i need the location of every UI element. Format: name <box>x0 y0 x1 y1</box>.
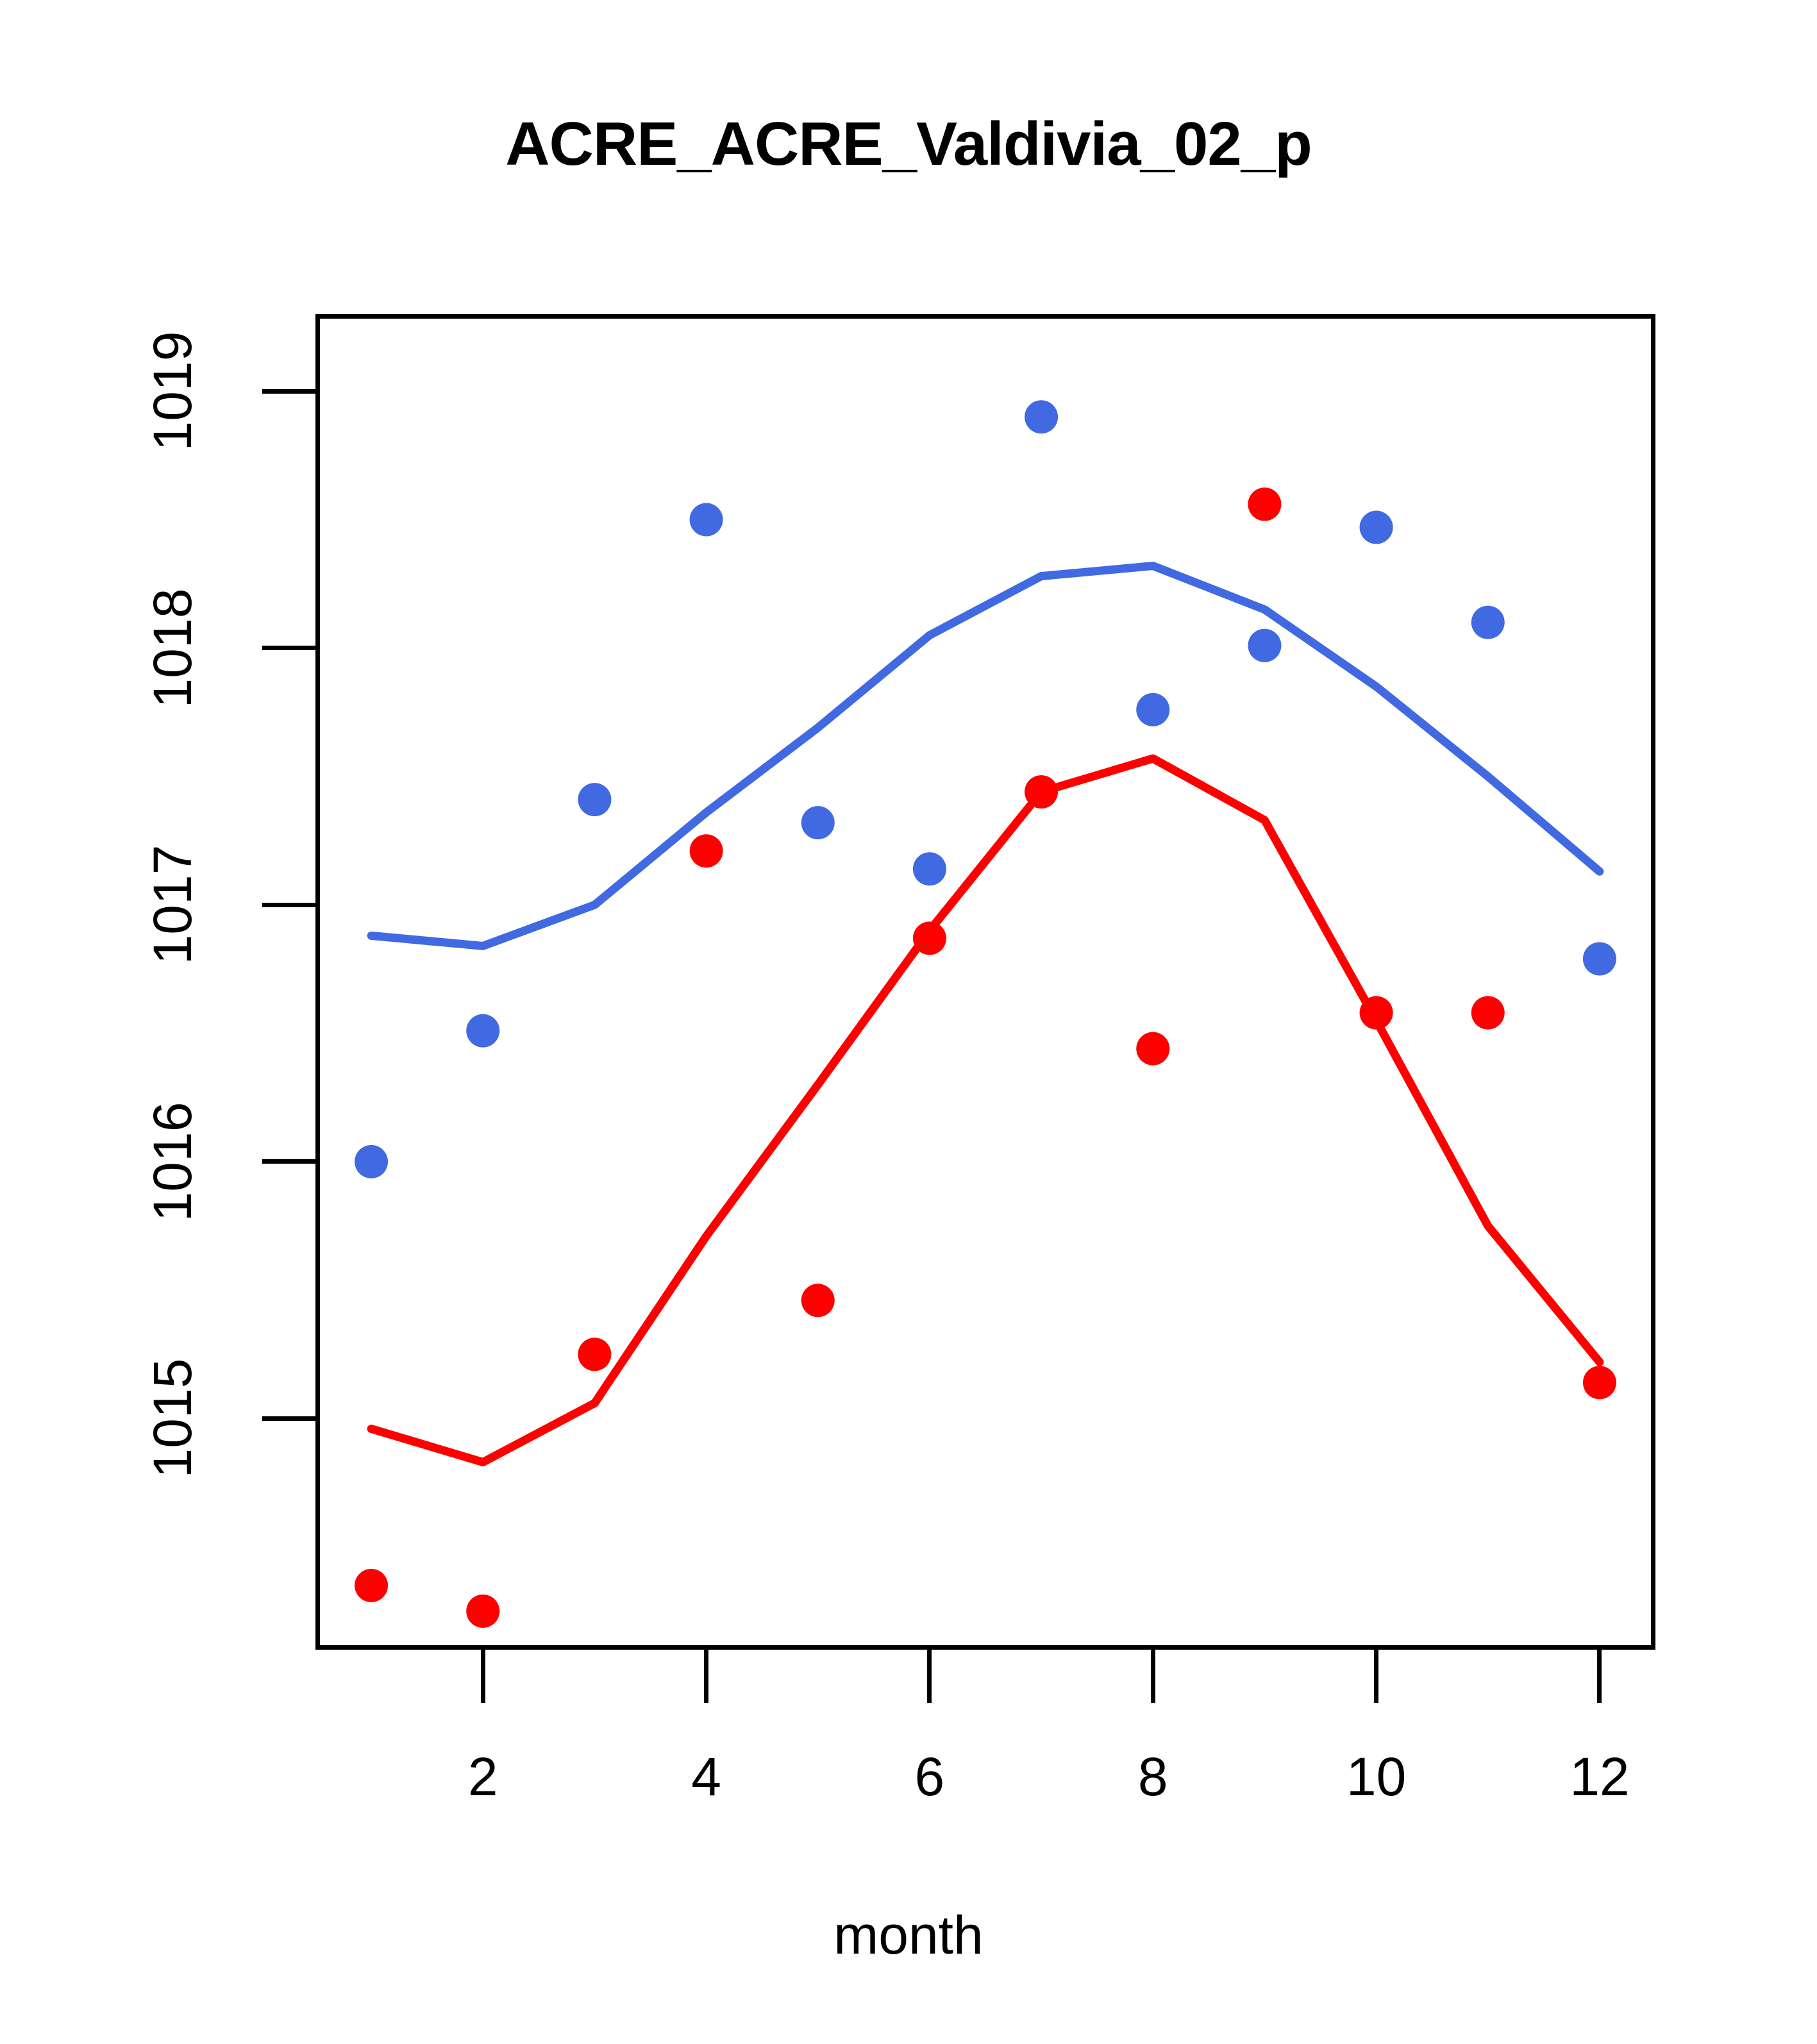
series-line-red-line <box>371 758 1600 1462</box>
x-axis-tick-label: 8 <box>1057 1746 1249 1808</box>
x-axis-tick <box>1374 1650 1378 1703</box>
data-point <box>1471 996 1505 1030</box>
series-line-blue-line <box>371 566 1600 946</box>
data-point <box>913 852 946 885</box>
data-point <box>1471 606 1505 639</box>
data-point <box>1136 1032 1169 1066</box>
x-axis-tick-label: 12 <box>1503 1746 1696 1808</box>
data-point <box>355 1145 388 1178</box>
data-point <box>466 1014 499 1048</box>
data-point <box>1248 629 1281 662</box>
data-point <box>578 783 611 816</box>
x-axis-tick <box>1151 1650 1155 1703</box>
x-axis-tick-label: 4 <box>610 1746 803 1808</box>
plot-svg <box>315 314 1655 1650</box>
y-axis-tick <box>262 903 315 907</box>
y-axis-tick-label: 1019 <box>140 314 205 468</box>
x-axis-tick-label: 6 <box>833 1746 1026 1808</box>
y-axis-tick <box>262 1159 315 1164</box>
chart-page: ACRE_ACRE_Valdivia_02_p 1015101610171018… <box>0 0 1817 2044</box>
y-axis-tick-label: 1016 <box>140 1085 205 1239</box>
x-axis-tick <box>927 1650 932 1703</box>
data-point <box>690 834 723 867</box>
x-axis-label: month <box>0 1904 1817 1966</box>
x-axis-tick <box>1597 1650 1602 1703</box>
x-axis-tick-label: 10 <box>1280 1746 1473 1808</box>
y-axis-tick <box>262 646 315 650</box>
plot-area <box>315 314 1655 1650</box>
data-point <box>1025 400 1058 433</box>
data-point <box>1248 487 1281 521</box>
data-point <box>801 1284 835 1317</box>
y-axis-tick-label: 1018 <box>140 571 205 725</box>
x-axis-tick <box>704 1650 708 1703</box>
page-title: ACRE_ACRE_Valdivia_02_p <box>0 109 1817 180</box>
data-point <box>578 1337 611 1371</box>
x-axis-tick <box>481 1650 485 1703</box>
data-point <box>1583 942 1616 975</box>
data-point <box>1136 693 1169 726</box>
data-point <box>1583 1366 1616 1399</box>
data-point <box>1360 510 1393 544</box>
data-point <box>355 1569 388 1602</box>
y-axis-tick-label: 1017 <box>140 828 205 982</box>
y-axis-tick <box>262 389 315 394</box>
data-point <box>466 1595 499 1628</box>
x-axis-tick-label: 2 <box>387 1746 579 1808</box>
data-point <box>1025 775 1058 808</box>
y-axis-tick-label: 1015 <box>140 1341 205 1495</box>
data-point <box>801 806 835 839</box>
data-point <box>913 921 946 955</box>
data-point <box>1360 996 1393 1030</box>
y-axis-tick <box>262 1416 315 1421</box>
data-point <box>690 503 723 536</box>
